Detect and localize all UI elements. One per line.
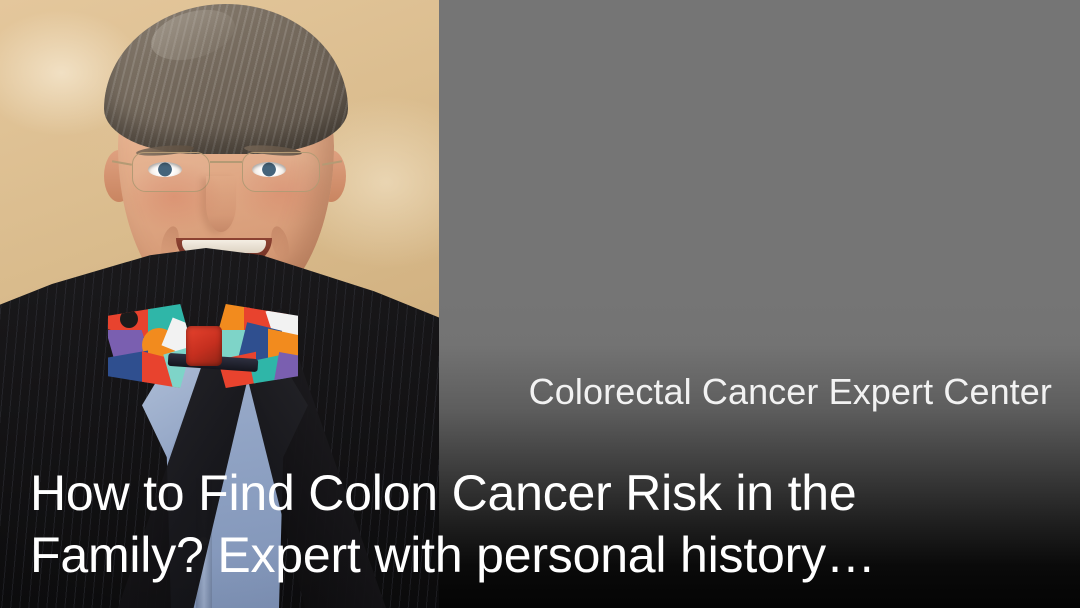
video-title: How to Find Colon Cancer Risk in the Fam… [30,462,1050,586]
channel-name: Colorectal Cancer Expert Center [458,372,1052,412]
text-overlay: Colorectal Cancer Expert Center How to F… [0,0,1080,608]
video-title-line-2: Family? Expert with personal history… [30,524,1050,586]
video-thumbnail: Colorectal Cancer Expert Center How to F… [0,0,1080,608]
video-title-line-1: How to Find Colon Cancer Risk in the [30,462,1050,524]
